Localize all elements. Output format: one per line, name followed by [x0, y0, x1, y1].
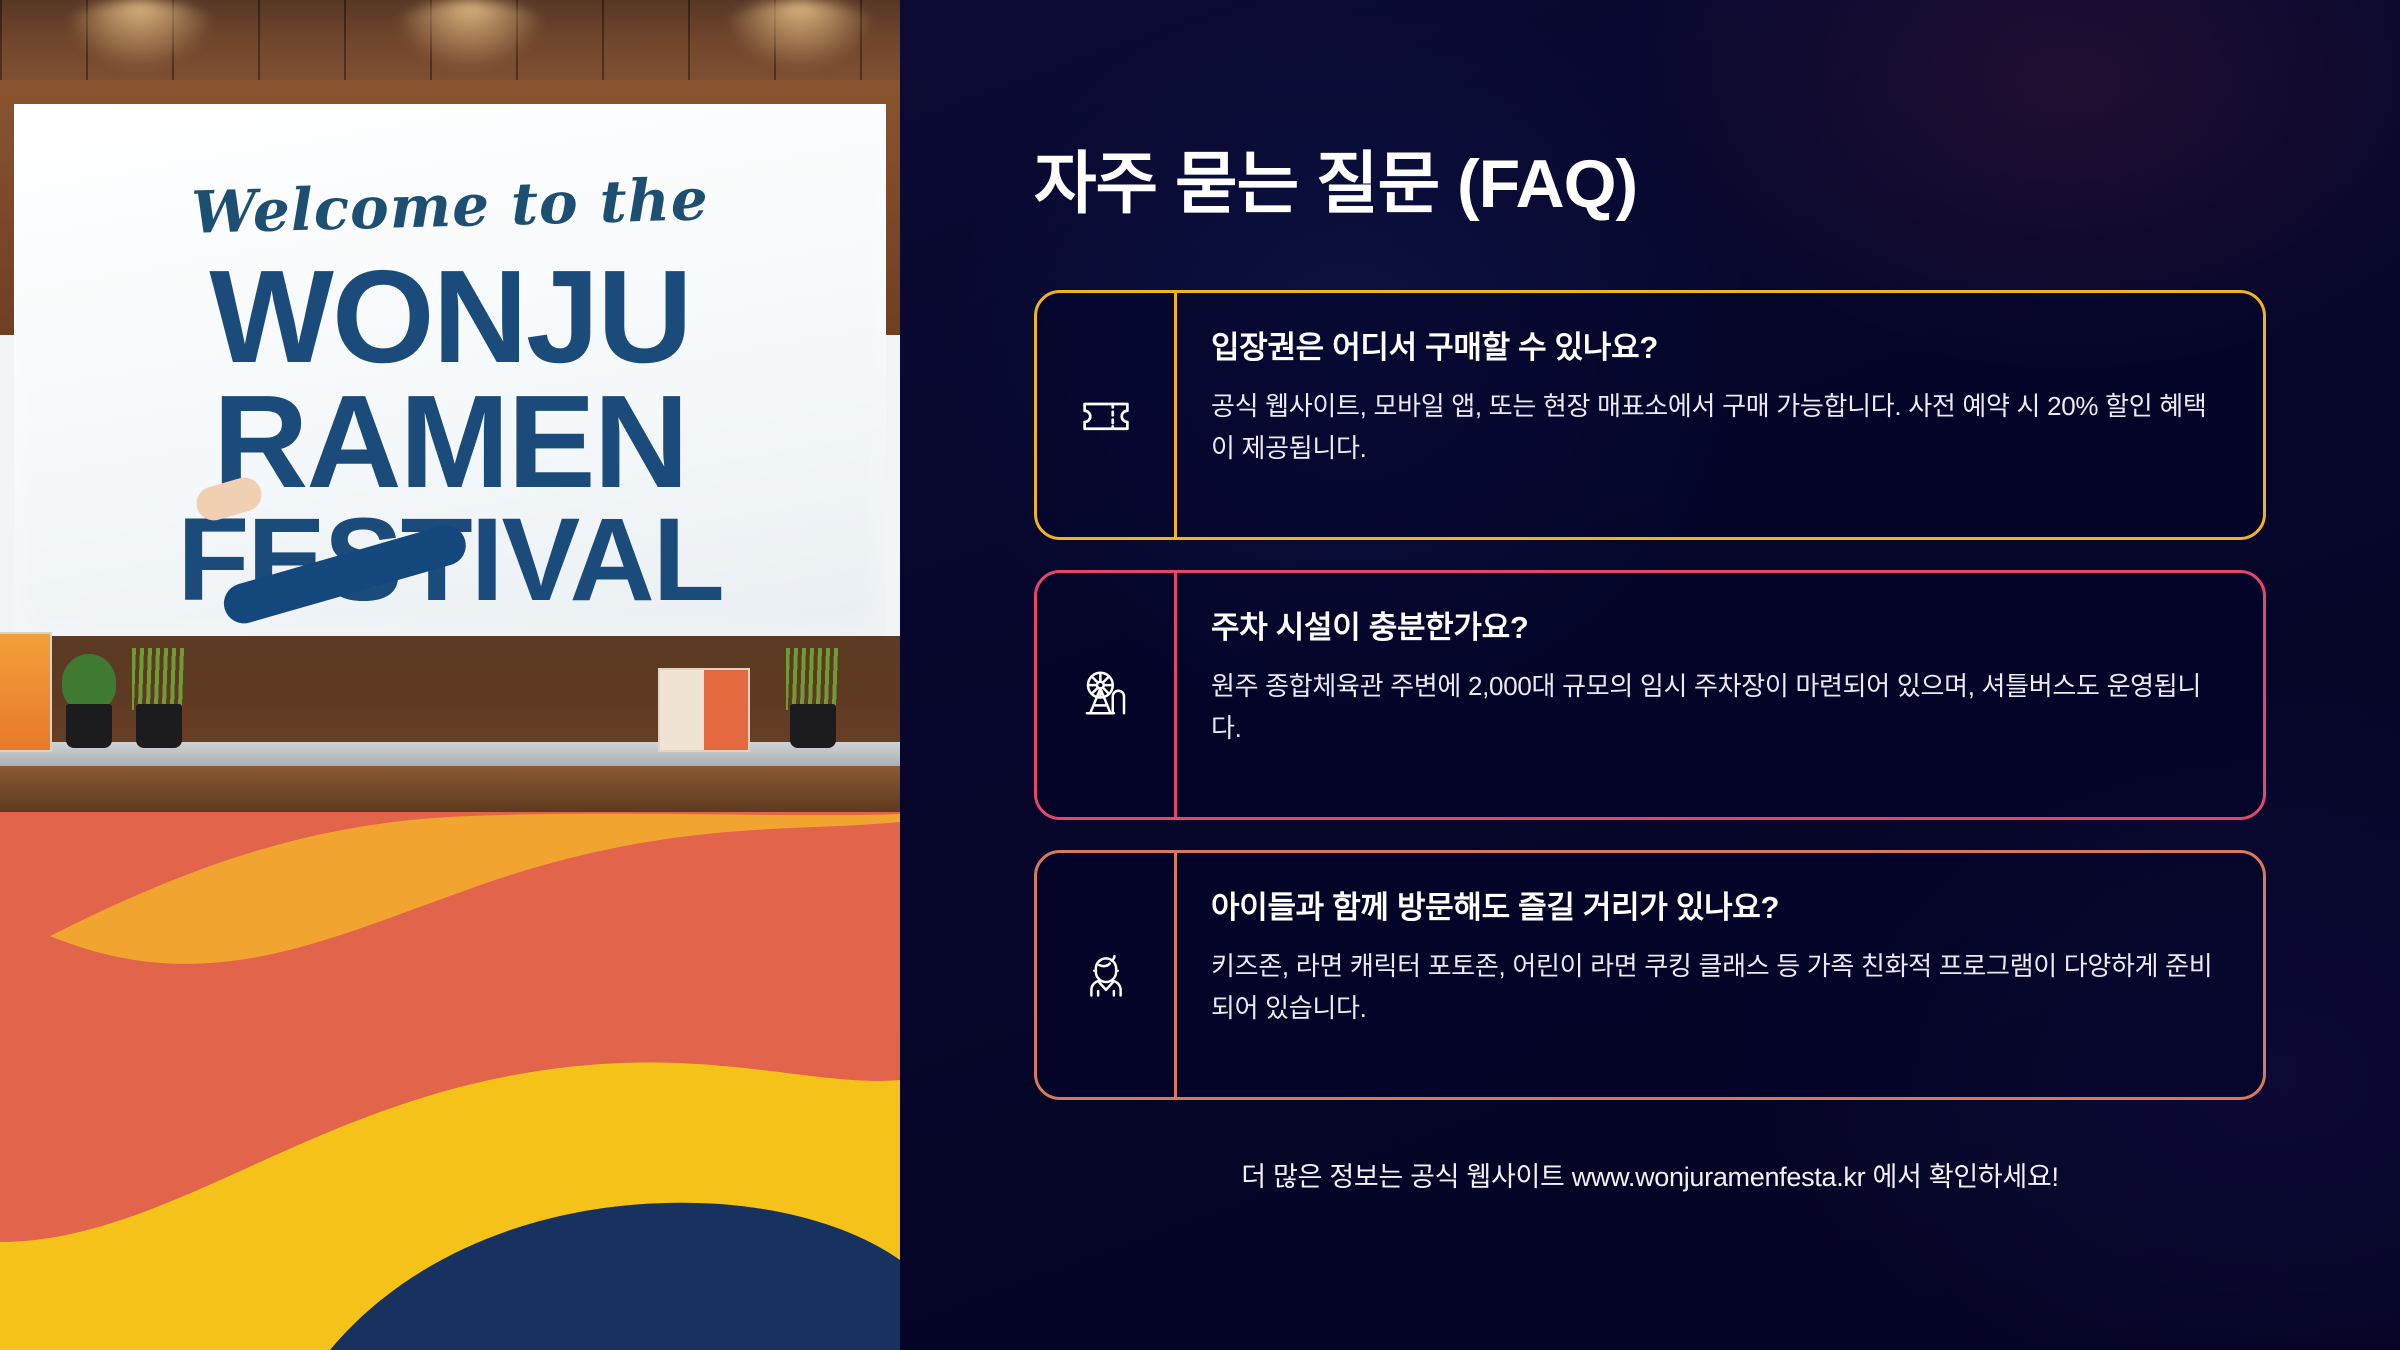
sign-line-ramen: RAMEN: [14, 379, 886, 504]
faq-content-panel: 자주 묻는 질문 (FAQ) 입장권은 어디서 구매할 수 있나요? 공식 웹사…: [900, 0, 2400, 1350]
faq-icon-wrap: [1037, 573, 1177, 817]
ferris-wheel-icon: [1079, 666, 1133, 725]
faq-icon-wrap: [1037, 293, 1177, 537]
faq-text-wrap: 아이들과 함께 방문해도 즐길 거리가 있나요? 키즈존, 라면 캐릭터 포토존…: [1177, 853, 2263, 1097]
faq-answer: 원주 종합체육관 주변에 2,000대 규모의 임시 주차장이 마련되어 있으며…: [1211, 665, 2221, 749]
faq-question: 입장권은 어디서 구매할 수 있나요?: [1211, 329, 2221, 368]
faq-card-parking[interactable]: 주차 시설이 충분한가요? 원주 종합체육관 주변에 2,000대 규모의 임시…: [1034, 570, 2266, 820]
festival-reception-photo: Welcome to the WONJU RAMEN FESTIVAL: [0, 0, 900, 1350]
faq-answer: 공식 웹사이트, 모바일 앱, 또는 현장 매표소에서 구매 가능합니다. 사전…: [1211, 385, 2221, 469]
festival-wave-floor: [0, 812, 900, 1350]
faq-icon-wrap: [1037, 853, 1177, 1097]
footer-note: 더 많은 정보는 공식 웹사이트 www.wonjuramenfesta.kr …: [900, 1155, 2400, 1194]
ceiling-light-glow: [60, 0, 220, 70]
faq-card-family[interactable]: 아이들과 함께 방문해도 즐길 거리가 있나요? 키즈존, 라면 캐릭터 포토존…: [1034, 850, 2266, 1100]
faq-text-wrap: 입장권은 어디서 구매할 수 있나요? 공식 웹사이트, 모바일 앱, 또는 현…: [1177, 293, 2263, 537]
reception-counter-top: [0, 742, 900, 768]
ceiling-light-glow: [390, 0, 550, 70]
child-person-icon: [1079, 946, 1133, 1005]
ticket-icon: [1079, 386, 1133, 445]
table-tent-card: [658, 668, 750, 752]
orange-standee-sign: [0, 632, 52, 752]
reception-counter-face: [0, 766, 900, 812]
sign-line-wonju: WONJU: [14, 254, 886, 379]
slide-root: Welcome to the WONJU RAMEN FESTIVAL: [0, 0, 2400, 1350]
faq-card-tickets[interactable]: 입장권은 어디서 구매할 수 있나요? 공식 웹사이트, 모바일 앱, 또는 현…: [1034, 290, 2266, 540]
page-title: 자주 묻는 질문 (FAQ): [1034, 128, 1637, 227]
sign-script-text: Welcome to the: [14, 161, 886, 252]
faq-list: 입장권은 어디서 구매할 수 있나요? 공식 웹사이트, 모바일 앱, 또는 현…: [1034, 290, 2266, 1130]
ceiling-light-glow: [720, 0, 880, 70]
faq-answer: 키즈존, 라면 캐릭터 포토존, 어린이 라면 쿠킹 클래스 등 가족 친화적 …: [1211, 945, 2221, 1029]
faq-question: 아이들과 함께 방문해도 즐길 거리가 있나요?: [1211, 889, 2221, 928]
faq-text-wrap: 주차 시설이 충분한가요? 원주 종합체육관 주변에 2,000대 규모의 임시…: [1177, 573, 2263, 817]
faq-question: 주차 시설이 충분한가요?: [1211, 609, 2221, 648]
